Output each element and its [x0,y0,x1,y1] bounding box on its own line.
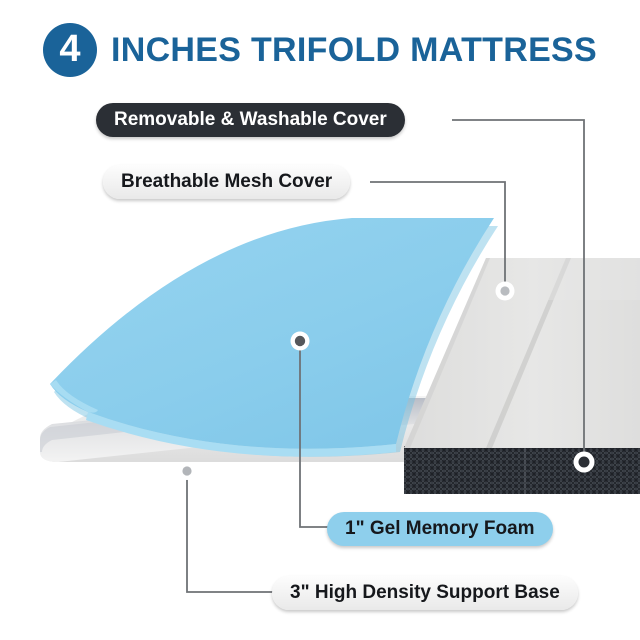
callout-removable-washable-cover: Removable & Washable Cover [96,103,405,137]
inches-badge: 4 [43,23,97,77]
connector-support-base [187,478,278,592]
callout-breathable-mesh-cover: Breathable Mesh Cover [103,165,350,199]
page-header: 4 INCHES TRIFOLD MATTRESS [0,14,640,86]
mesh-side-panel [404,446,640,494]
callout-gel-memory-foam: 1" Gel Memory Foam [327,512,553,546]
callout-high-density-support-base: 3" High Density Support Base [272,576,578,610]
page-title: INCHES TRIFOLD MATTRESS [111,31,597,70]
infographic-canvas: 4 INCHES TRIFOLD MATTRESS Removable & Wa… [0,0,640,640]
